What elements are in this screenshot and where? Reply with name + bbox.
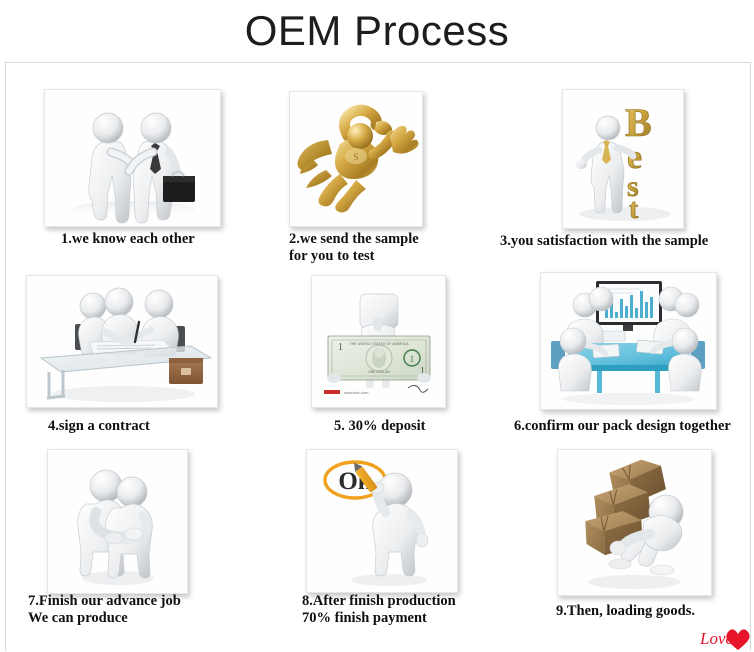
team-meeting-illustration <box>540 272 717 410</box>
step-2-caption: 2.we send the sample for you to test <box>289 231 489 265</box>
step-6-caption: 6.confirm our pack design together <box>514 418 754 435</box>
svg-text:ONE DOLLAR: ONE DOLLAR <box>368 370 390 374</box>
svg-text:1: 1 <box>410 354 415 364</box>
best-letters-illustration: B e s t <box>562 89 684 229</box>
ok-approval-illustration: Ok <box>306 449 458 593</box>
svg-text:THE UNITED STATES OF AMERICA: THE UNITED STATES OF AMERICA <box>349 342 409 346</box>
love-watermark: Love <box>700 620 754 650</box>
step-5-caption: 5. 30% deposit <box>334 418 514 435</box>
step-7-caption: 7.Finish our advance job We can produce <box>28 593 238 627</box>
step-1-caption: 1.we know each other <box>61 231 251 248</box>
carrying-boxes-illustration <box>557 449 712 596</box>
dollar-bill-illustration: 1 1 1 THE UNITED STATES OF AMERICA ONE D… <box>311 275 446 408</box>
handshake-illustration <box>44 89 221 227</box>
gold-superhero-illustration: S <box>289 91 423 227</box>
step-9-caption: 9.Then, loading goods. <box>556 603 754 620</box>
process-grid: 1.we know each other <box>5 62 751 651</box>
svg-text:S: S <box>353 152 358 162</box>
svg-text:t: t <box>629 194 639 225</box>
svg-text:www.site.com: www.site.com <box>344 390 369 395</box>
svg-text:1: 1 <box>338 342 343 353</box>
contract-signing-illustration <box>26 275 218 408</box>
page-title: OEM Process <box>0 0 754 62</box>
step-3-caption: 3.you satisfaction with the sample <box>500 233 750 250</box>
step-8-caption: 8.After finish production 70% finish pay… <box>302 593 522 627</box>
step-4-caption: 4.sign a contract <box>48 418 248 435</box>
hugging-figures-illustration <box>47 449 188 594</box>
